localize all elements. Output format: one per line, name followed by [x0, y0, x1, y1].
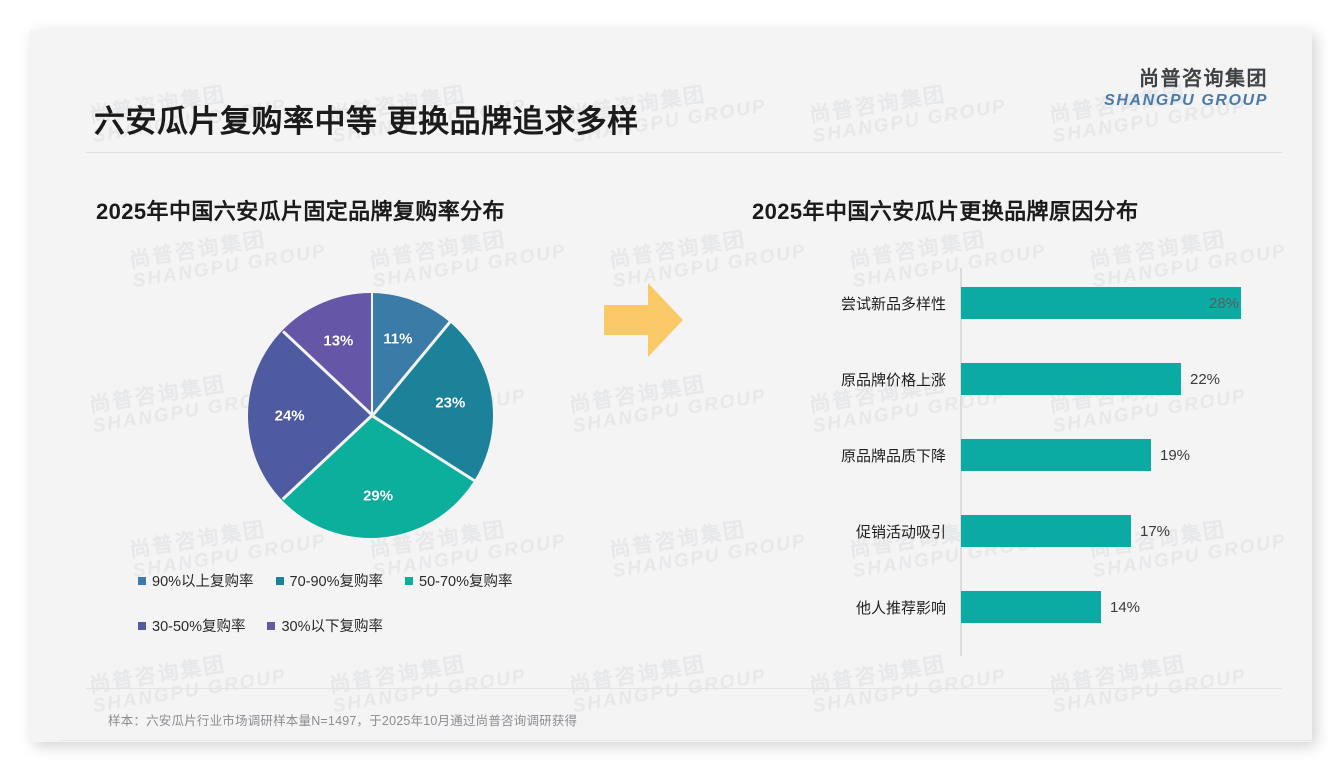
pie-chart-panel: 2025年中国六安瓜片固定品牌复购率分布 11%23%29%24%13% 90%… — [30, 158, 678, 678]
legend-color-swatch — [267, 622, 275, 630]
legend-color-swatch — [405, 577, 413, 585]
pie-slice-label: 13% — [323, 333, 353, 350]
bar-value-label: 14% — [1110, 599, 1140, 616]
sample-footnote: 样本：六安瓜片行业市场调研样本量N=1497，于2025年10月通过尚普咨询调研… — [108, 710, 577, 729]
legend-color-swatch — [138, 577, 146, 585]
legend-item[interactable]: 30-50%复购率 — [138, 615, 245, 636]
pie-slice-label: 24% — [275, 407, 305, 424]
legend-item[interactable]: 90%以上复购率 — [138, 570, 254, 591]
bar-fill[interactable] — [961, 439, 1151, 471]
legend-item[interactable]: 50-70%复购率 — [405, 570, 512, 591]
bar-chart-row: 尝试新品多样性28% — [678, 287, 1312, 319]
pie-slice-label: 11% — [383, 331, 412, 348]
pie-slice-label: 29% — [363, 487, 393, 504]
bar-category-label: 原品牌品质下降 — [678, 445, 946, 466]
legend-item[interactable]: 30%以下复购率 — [267, 615, 383, 636]
bar-value-label: 28% — [1209, 295, 1239, 312]
legend-label: 90%以上复购率 — [152, 570, 254, 591]
slide-card: 尚普咨询集团SHANGPU GROUP尚普咨询集团SHANGPU GROUP尚普… — [30, 30, 1312, 742]
bar-fill[interactable] — [961, 591, 1101, 623]
bar-chart-row: 原品牌价格上涨22% — [678, 363, 1312, 395]
bar-chart-title: 2025年中国六安瓜片更换品牌原因分布 — [752, 194, 1139, 226]
legend-label: 70-90%复购率 — [290, 570, 383, 591]
bar-chart: 尝试新品多样性28%原品牌价格上涨22%原品牌品质下降19%促销活动吸引17%他… — [678, 268, 1312, 668]
legend-color-swatch — [138, 622, 146, 630]
bar-value-label: 22% — [1190, 371, 1220, 388]
page-title: 六安瓜片复购率中等 更换品牌追求多样 — [94, 96, 639, 141]
bar-value-label: 19% — [1160, 447, 1190, 464]
bar-category-label: 促销活动吸引 — [678, 521, 946, 542]
bar-chart-row: 原品牌品质下降19% — [678, 439, 1312, 471]
pie-chart: 11%23%29%24%13% — [248, 293, 493, 538]
logo-english-text: SHANGPU GROUP — [1104, 92, 1268, 110]
bar-category-label: 尝试新品多样性 — [678, 293, 946, 314]
legend-row: 90%以上复购率70-90%复购率50-70%复购率 — [138, 570, 608, 591]
legend-label: 30-50%复购率 — [152, 615, 245, 636]
bar-chart-panel: 2025年中国六安瓜片更换品牌原因分布 尝试新品多样性28%原品牌价格上涨22%… — [678, 158, 1312, 678]
pie-slice-divider — [371, 293, 374, 416]
legend-color-swatch — [276, 577, 284, 585]
slide-header: 六安瓜片复购率中等 更换品牌追求多样 尚普咨询集团 SHANGPU GROUP — [30, 30, 1312, 116]
logo-chinese-text: 尚普咨询集团 — [1104, 62, 1268, 91]
pie-chart-title: 2025年中国六安瓜片固定品牌复购率分布 — [96, 194, 505, 226]
legend-label: 50-70%复购率 — [419, 570, 512, 591]
arrow-right-icon — [598, 277, 688, 363]
pie-slice-label: 23% — [435, 394, 465, 411]
bar-fill[interactable] — [961, 363, 1181, 395]
bar-fill[interactable] — [961, 287, 1241, 319]
brand-logo: 尚普咨询集团 SHANGPU GROUP — [1104, 62, 1268, 110]
header-divider — [86, 152, 1282, 153]
bar-fill[interactable] — [961, 515, 1131, 547]
legend-row: 30-50%复购率30%以下复购率 — [138, 615, 608, 636]
bar-chart-row: 促销活动吸引17% — [678, 515, 1312, 547]
legend-label: 30%以下复购率 — [281, 615, 383, 636]
legend-item[interactable]: 70-90%复购率 — [276, 570, 383, 591]
bar-value-label: 17% — [1140, 523, 1170, 540]
slide-footer: ©2025.12 SHANGPU GROUP www.shangpu-china… — [60, 741, 1312, 742]
footnote-divider — [86, 688, 1282, 689]
bar-category-label: 他人推荐影响 — [678, 597, 946, 618]
bar-category-label: 原品牌价格上涨 — [678, 369, 946, 390]
bar-chart-row: 他人推荐影响14% — [678, 591, 1312, 623]
pie-legend: 90%以上复购率70-90%复购率50-70%复购率30-50%复购率30%以下… — [138, 570, 608, 660]
